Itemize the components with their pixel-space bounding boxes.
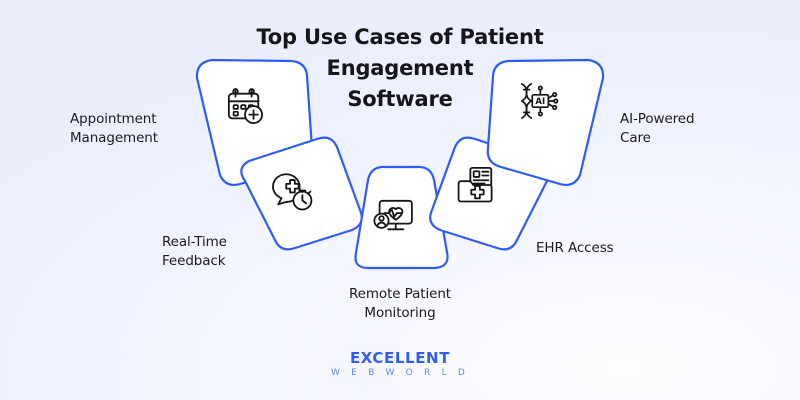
infographic-canvas: Top Use Cases of Patient Engagement Soft… [0, 0, 800, 400]
calendar-plus-icon [229, 89, 262, 123]
label-ai-powered-care: AI-Powered Care [620, 110, 740, 148]
use-case-arc: AI [0, 0, 800, 400]
label-real-time-feedback: Real-Time Feedback [162, 233, 282, 271]
label-ehr-access: EHR Access [536, 239, 666, 258]
brand-logo-sub: W E B W O R L D [0, 369, 800, 378]
svg-text:AI: AI [535, 97, 545, 107]
label-remote-patient-monitoring: Remote Patient Monitoring [325, 285, 475, 323]
card-ai-powered-care[interactable]: AI [488, 60, 603, 185]
brand-logo: EXCELLENT W E B W O R L D [0, 351, 800, 378]
brand-logo-main: EXCELLENT [0, 351, 800, 366]
card-shape-ai [488, 60, 603, 185]
label-appointment-management: Appointment Management [70, 110, 200, 148]
